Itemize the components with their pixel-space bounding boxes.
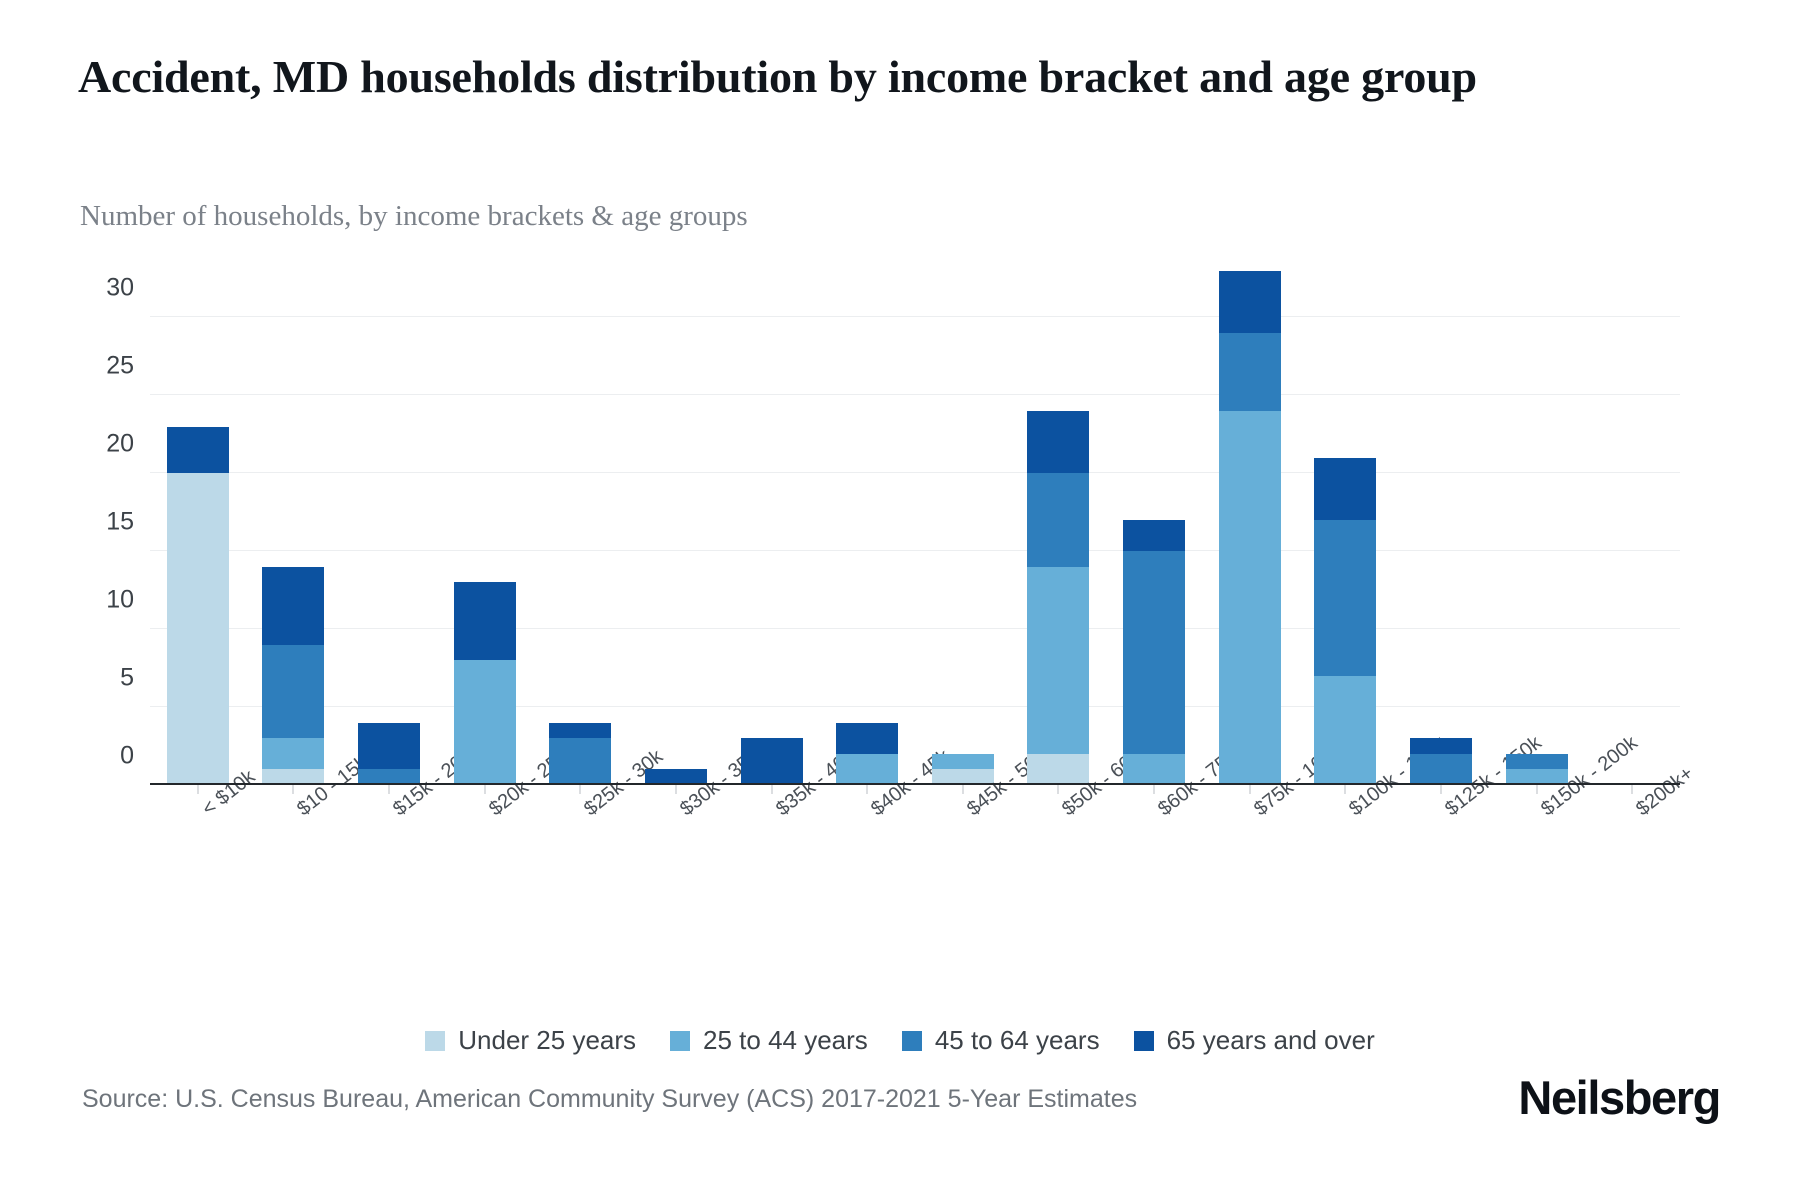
- bar-column[interactable]: $35k - 40k: [724, 255, 820, 785]
- bar-segment[interactable]: [1314, 520, 1376, 676]
- bar-group: < $10k$10 - 15k$15k - 20k$20k - 25k$25k …: [150, 255, 1680, 785]
- page-title: Accident, MD households distribution by …: [78, 48, 1638, 107]
- x-axis-tick: [1154, 785, 1155, 794]
- bar-column[interactable]: $100k - 125k: [1298, 255, 1394, 785]
- bar-segment[interactable]: [1219, 333, 1281, 411]
- x-axis-tick: [1058, 785, 1059, 794]
- bar-column[interactable]: $50k - 60k: [1011, 255, 1107, 785]
- bar-segment[interactable]: [1410, 754, 1472, 785]
- bar-segment[interactable]: [1027, 567, 1089, 754]
- legend: Under 25 years25 to 44 years45 to 64 yea…: [0, 1025, 1800, 1056]
- chart-page: Accident, MD households distribution by …: [0, 0, 1800, 1200]
- legend-label: 45 to 64 years: [935, 1025, 1100, 1056]
- y-axis-tick-label: 5: [120, 664, 134, 693]
- bar-stack[interactable]: [1123, 520, 1185, 785]
- x-axis-tick: [197, 785, 198, 794]
- bar-segment[interactable]: [549, 723, 611, 739]
- legend-swatch-icon: [670, 1031, 690, 1051]
- bar-column[interactable]: $200k+: [1584, 255, 1680, 785]
- page-subtitle: Number of households, by income brackets…: [80, 200, 748, 233]
- bar-segment[interactable]: [549, 738, 611, 785]
- x-axis-tick: [389, 785, 390, 794]
- bar-column[interactable]: $75k - 100k: [1202, 255, 1298, 785]
- bar-segment[interactable]: [1219, 411, 1281, 785]
- x-axis-tick: [675, 785, 676, 794]
- bar-segment[interactable]: [741, 738, 803, 785]
- x-axis-tick: [1440, 785, 1441, 794]
- x-axis-tick-label: $200k+: [1632, 762, 1698, 821]
- x-axis-tick: [1536, 785, 1537, 794]
- bar-segment[interactable]: [1027, 754, 1089, 785]
- legend-swatch-icon: [1134, 1031, 1154, 1051]
- bar-segment[interactable]: [167, 427, 229, 474]
- bar-segment[interactable]: [1027, 411, 1089, 473]
- bar-segment[interactable]: [1027, 473, 1089, 567]
- bar-column[interactable]: $150k - 200k: [1489, 255, 1585, 785]
- bar-column[interactable]: $40k - 45k: [819, 255, 915, 785]
- bar-segment[interactable]: [932, 754, 994, 770]
- bar-stack[interactable]: [1506, 754, 1568, 785]
- bar-column[interactable]: < $10k: [150, 255, 246, 785]
- bar-stack[interactable]: [1219, 271, 1281, 785]
- x-axis-line: [150, 783, 1680, 785]
- bar-segment[interactable]: [167, 473, 229, 785]
- legend-label: Under 25 years: [458, 1025, 636, 1056]
- y-axis-tick-label: 10: [106, 586, 134, 615]
- bar-segment[interactable]: [1314, 676, 1376, 785]
- bar-stack[interactable]: [932, 754, 994, 785]
- bar-segment[interactable]: [358, 723, 420, 770]
- bar-stack[interactable]: [1314, 458, 1376, 785]
- y-axis-tick-label: 15: [106, 508, 134, 537]
- x-axis-tick: [1249, 785, 1250, 794]
- brand-logo: Neilsberg: [1518, 1070, 1720, 1125]
- bar-column[interactable]: $60k - 75k: [1106, 255, 1202, 785]
- x-axis-tick: [580, 785, 581, 794]
- legend-swatch-icon: [902, 1031, 922, 1051]
- bar-stack[interactable]: [549, 723, 611, 785]
- bar-stack[interactable]: [167, 427, 229, 786]
- legend-label: 25 to 44 years: [703, 1025, 868, 1056]
- bar-stack[interactable]: [741, 738, 803, 785]
- bar-stack[interactable]: [358, 723, 420, 785]
- bar-segment[interactable]: [1410, 738, 1472, 754]
- y-axis-tick-label: 20: [106, 430, 134, 459]
- bar-segment[interactable]: [836, 754, 898, 785]
- bar-column[interactable]: $25k - 30k: [533, 255, 629, 785]
- bar-segment[interactable]: [262, 645, 324, 739]
- legend-swatch-icon: [425, 1031, 445, 1051]
- bar-segment[interactable]: [1219, 271, 1281, 333]
- bar-stack[interactable]: [1027, 411, 1089, 785]
- bar-segment[interactable]: [1123, 520, 1185, 551]
- x-axis-tick: [293, 785, 294, 794]
- bar-column[interactable]: $125k - 150k: [1393, 255, 1489, 785]
- bar-segment[interactable]: [454, 582, 516, 660]
- bar-stack[interactable]: [262, 567, 324, 785]
- legend-item[interactable]: 65 years and over: [1134, 1025, 1375, 1056]
- plot-area: 051015202530 < $10k$10 - 15k$15k - 20k$2…: [150, 255, 1680, 785]
- bar-segment[interactable]: [1314, 458, 1376, 520]
- x-axis-tick: [771, 785, 772, 794]
- legend-item[interactable]: 45 to 64 years: [902, 1025, 1100, 1056]
- bar-segment[interactable]: [1123, 551, 1185, 754]
- bar-stack[interactable]: [836, 723, 898, 785]
- bar-segment[interactable]: [262, 738, 324, 769]
- bar-column[interactable]: $30k - 35k: [628, 255, 724, 785]
- bar-column[interactable]: $15k - 20k: [341, 255, 437, 785]
- bar-column[interactable]: $20k - 25k: [437, 255, 533, 785]
- legend-label: 65 years and over: [1167, 1025, 1375, 1056]
- bar-segment[interactable]: [1506, 754, 1568, 770]
- x-axis-tick: [1632, 785, 1633, 794]
- bar-stack[interactable]: [1410, 738, 1472, 785]
- bar-segment[interactable]: [836, 723, 898, 754]
- bar-column[interactable]: $10 - 15k: [246, 255, 342, 785]
- y-axis-tick-label: 25: [106, 352, 134, 381]
- legend-item[interactable]: Under 25 years: [425, 1025, 636, 1056]
- bar-segment[interactable]: [454, 660, 516, 785]
- y-axis-tick-label: 0: [120, 742, 134, 771]
- bar-stack[interactable]: [454, 582, 516, 785]
- source-note: Source: U.S. Census Bureau, American Com…: [82, 1085, 1137, 1114]
- bar-segment[interactable]: [262, 567, 324, 645]
- bar-column[interactable]: $45k - 50k: [915, 255, 1011, 785]
- x-axis-tick: [1345, 785, 1346, 794]
- legend-item[interactable]: 25 to 44 years: [670, 1025, 868, 1056]
- bar-segment[interactable]: [1123, 754, 1185, 785]
- x-axis-tick: [484, 785, 485, 794]
- y-axis-tick-label: 30: [106, 274, 134, 303]
- x-axis-tick: [867, 785, 868, 794]
- x-axis-tick: [962, 785, 963, 794]
